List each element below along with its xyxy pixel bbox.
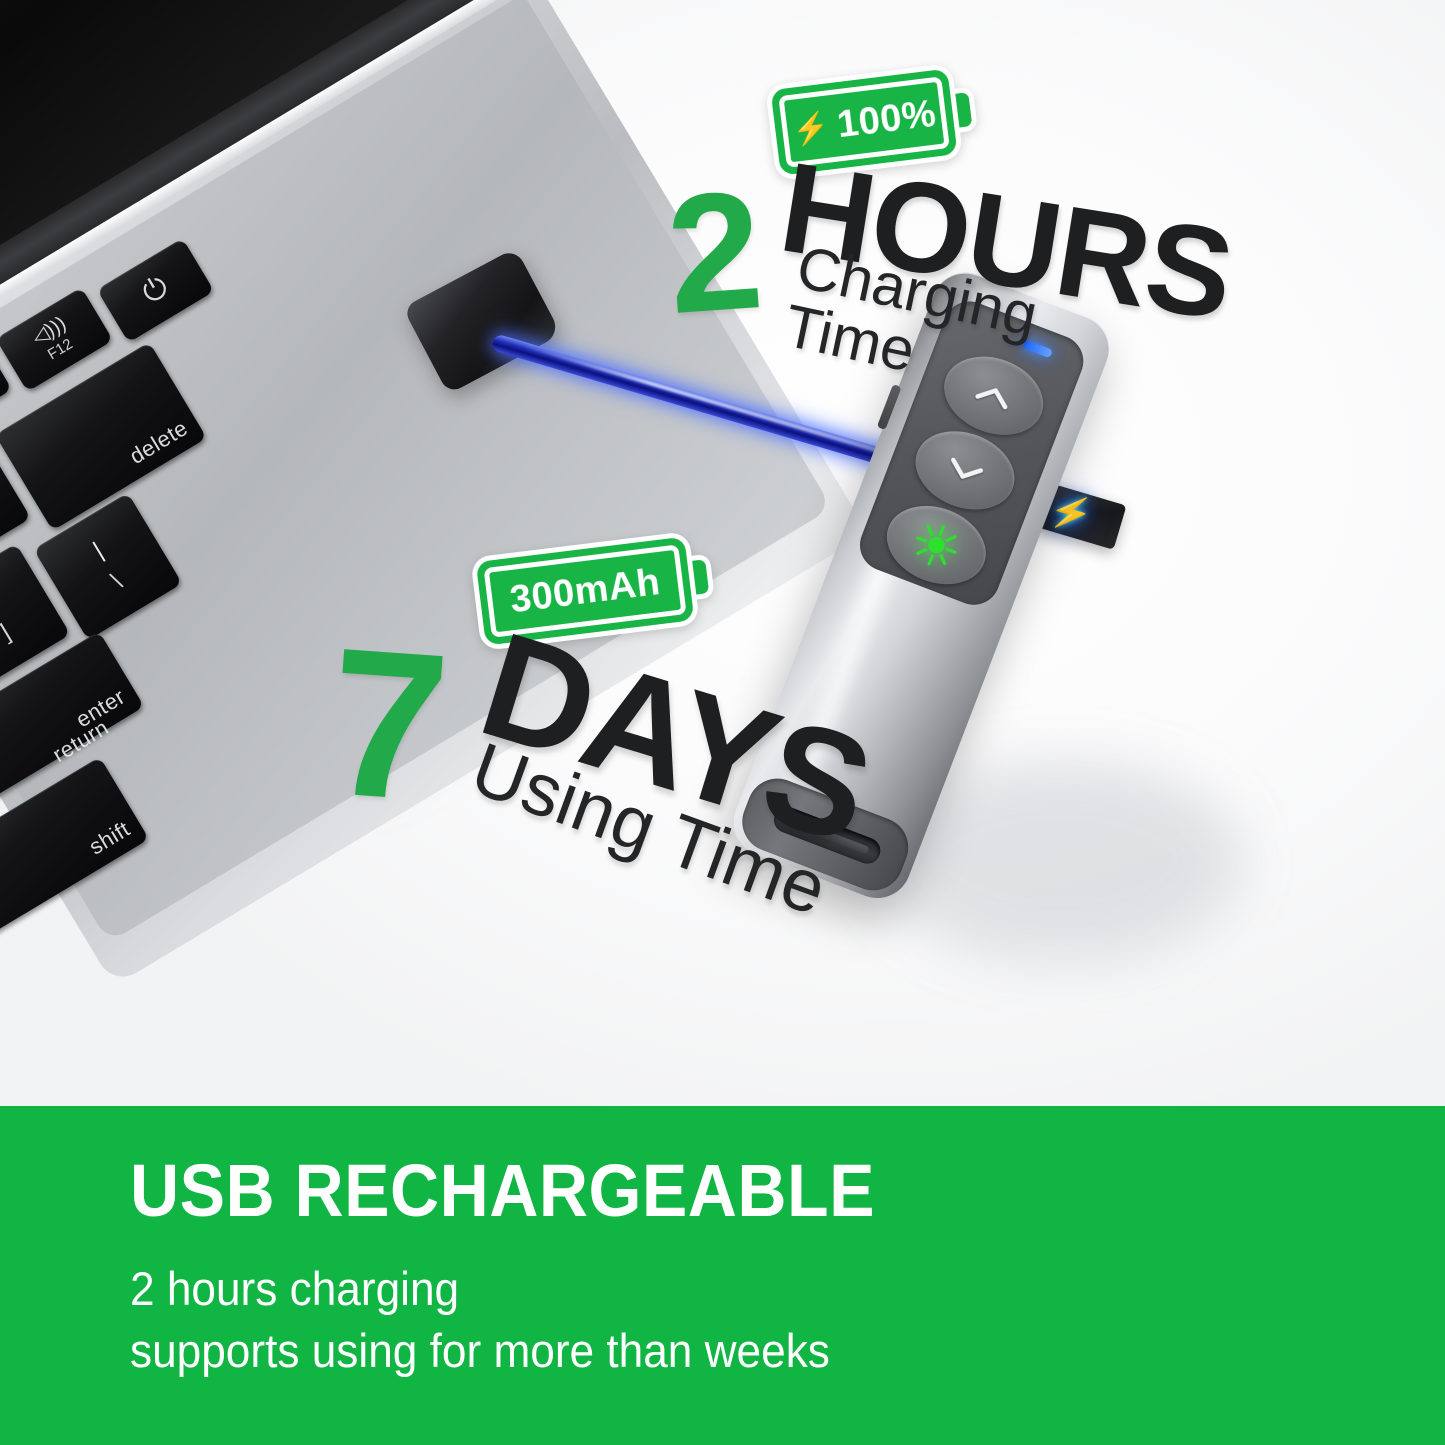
- chevron-down-icon: [941, 453, 988, 489]
- power-icon: ⏻: [138, 271, 174, 309]
- key-delete-label: delete: [125, 409, 207, 477]
- banner-title: USB RECHARGEABLE: [130, 1154, 1340, 1228]
- key-bracket-right-label: } ]: [0, 588, 16, 647]
- feature-banner: USB RECHARGEABLE 2 hours charging suppor…: [0, 1106, 1445, 1445]
- key-shift-label: shift: [85, 810, 150, 867]
- banner-line-1: 2 hours charging: [130, 1258, 1366, 1320]
- using-time-callout: 7 DAYS Using Time: [330, 620, 890, 1000]
- charging-time-callout: 2 HOURS Charging Time: [668, 168, 1138, 398]
- battery-percent-label: 100%: [835, 92, 939, 147]
- product-feature-image: ◁ı F11 ◁))) F12 ⏻ + =: [0, 0, 1445, 1445]
- key-backslash-label: | \: [89, 537, 128, 595]
- sun-laser-icon: [907, 515, 966, 574]
- battery-terminal-nub: [955, 92, 972, 127]
- charging-time-number: 2: [662, 165, 767, 339]
- banner-line-2: supports using for more than weeks: [130, 1320, 1366, 1382]
- using-time-number: 7: [323, 616, 454, 834]
- key-power[interactable]: ⏻: [97, 238, 215, 343]
- product-photo: ◁ı F11 ◁))) F12 ⏻ + =: [0, 0, 1445, 1106]
